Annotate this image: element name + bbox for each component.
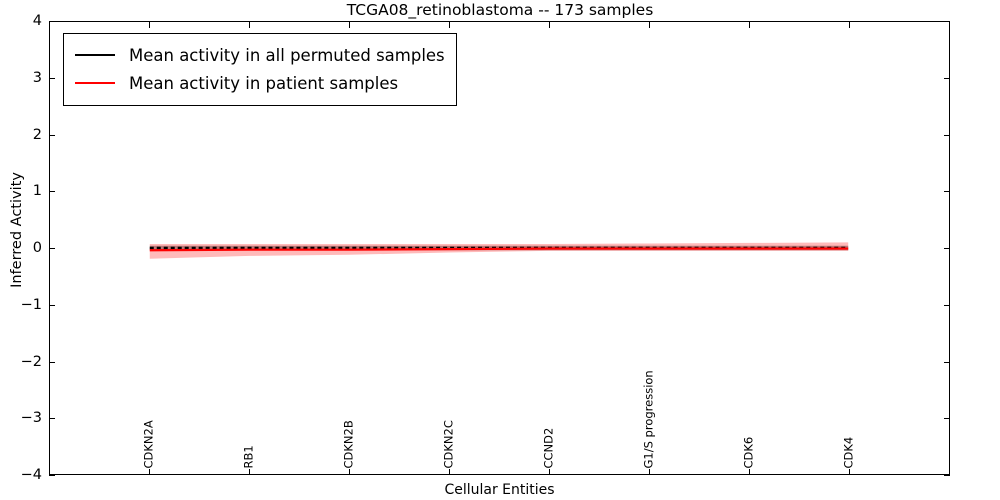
y-tick-label: 4 xyxy=(33,13,42,29)
x-tick-mark xyxy=(449,469,450,475)
x-tick-mark xyxy=(549,469,550,475)
y-axis-tick-labels: 43210−1−2−3−4 xyxy=(0,21,42,475)
y-tick-label: −1 xyxy=(21,297,42,313)
y-tick-label: 2 xyxy=(33,127,42,143)
x-tick-label: CCND2 xyxy=(544,427,556,468)
x-tick-mark xyxy=(649,469,650,475)
y-tick-mark xyxy=(49,362,55,363)
x-tick-mark xyxy=(549,22,550,28)
x-tick-mark xyxy=(349,469,350,475)
x-tick-label: CDKN2A xyxy=(144,420,156,468)
y-tick-mark xyxy=(49,135,55,136)
x-tick-mark xyxy=(149,22,150,28)
y-tick-label: 3 xyxy=(33,70,42,86)
x-tick-label: RB1 xyxy=(244,445,256,468)
x-tick-mark xyxy=(849,469,850,475)
x-tick-mark xyxy=(849,22,850,28)
legend-item[interactable]: Mean activity in patient samples xyxy=(75,69,445,97)
y-tick-mark xyxy=(944,135,950,136)
y-tick-mark xyxy=(944,191,950,192)
x-tick-label: CDK6 xyxy=(744,436,756,468)
x-tick-mark xyxy=(349,22,350,28)
y-tick-label: 0 xyxy=(33,240,42,256)
chart-title: TCGA08_retinoblastoma -- 173 samples xyxy=(0,1,1000,19)
legend-item[interactable]: Mean activity in all permuted samples xyxy=(75,41,445,69)
y-tick-mark xyxy=(49,418,55,419)
legend-label: Mean activity in all permuted samples xyxy=(129,46,445,65)
x-tick-mark xyxy=(749,22,750,28)
x-tick-label: CDKN2C xyxy=(444,420,456,468)
y-tick-mark xyxy=(49,305,55,306)
y-tick-mark xyxy=(944,362,950,363)
y-tick-label: −2 xyxy=(21,354,42,370)
y-tick-mark xyxy=(944,248,950,249)
legend-line-swatch-patient xyxy=(75,82,115,84)
x-tick-label: CDKN2B xyxy=(344,420,356,468)
legend-label: Mean activity in patient samples xyxy=(129,74,398,93)
chart-figure: TCGA08_retinoblastoma -- 173 samples Inf… xyxy=(0,0,1000,500)
y-tick-mark xyxy=(944,305,950,306)
y-tick-label: −4 xyxy=(21,467,42,483)
y-tick-mark xyxy=(944,78,950,79)
x-tick-mark xyxy=(249,469,250,475)
y-tick-mark xyxy=(49,78,55,79)
y-tick-mark xyxy=(944,475,950,476)
legend-line-swatch-permuted xyxy=(75,54,115,56)
chart-legend: Mean activity in all permuted samples Me… xyxy=(63,33,457,106)
y-tick-mark xyxy=(944,21,950,22)
y-tick-label: 1 xyxy=(33,183,42,199)
x-tick-label: G1/S progression xyxy=(644,370,656,468)
x-axis-label: Cellular Entities xyxy=(49,482,950,498)
y-tick-mark xyxy=(49,248,55,249)
y-tick-mark xyxy=(944,418,950,419)
y-tick-mark xyxy=(49,475,55,476)
x-tick-mark xyxy=(649,22,650,28)
x-tick-label: CDK4 xyxy=(844,436,856,468)
x-tick-mark xyxy=(149,469,150,475)
x-tick-mark xyxy=(249,22,250,28)
y-tick-mark xyxy=(49,191,55,192)
x-tick-mark xyxy=(449,22,450,28)
x-tick-mark xyxy=(749,469,750,475)
y-tick-label: −3 xyxy=(21,410,42,426)
y-tick-mark xyxy=(49,21,55,22)
